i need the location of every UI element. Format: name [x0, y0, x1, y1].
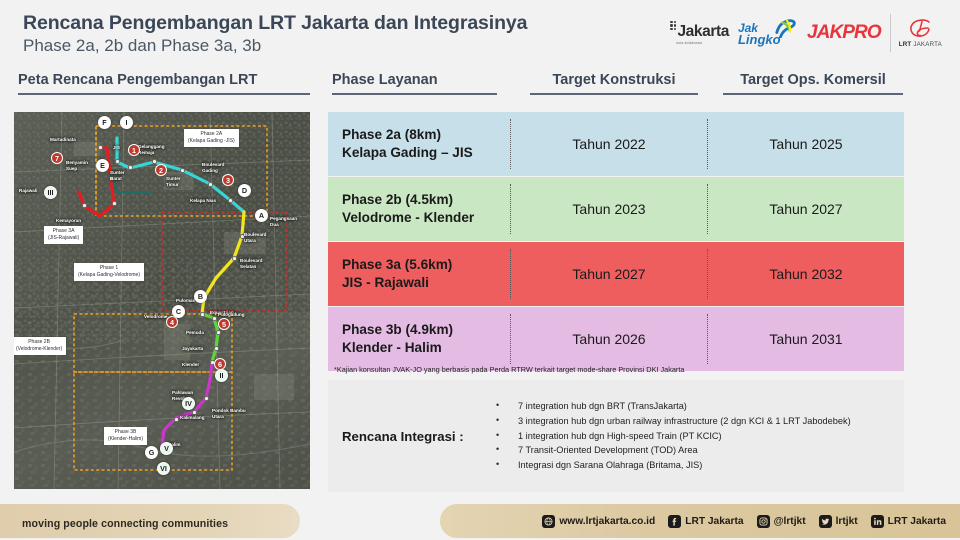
phase-cell: Phase 2a (8km) Kelapa Gading – JIS	[328, 126, 510, 161]
construction-target: Tahun 2026	[511, 331, 707, 347]
map-area-label-line1: Phase 3A	[48, 228, 79, 235]
station-dot	[98, 145, 103, 150]
map-area-label-line1: Phase 2A	[188, 131, 235, 138]
footer-instagram-label: @lrtjkt	[774, 516, 806, 527]
map-area-label-line2: (Kelapa Gading-Velodrome)	[78, 272, 140, 279]
station-dot	[152, 159, 157, 164]
station-dot	[174, 417, 179, 422]
phase-cell: Phase 3b (4.9km) Klender - Halim	[328, 321, 510, 356]
logo-strip: Jakarta kota kolaborasi Jak Lingko JAKPR…	[670, 13, 942, 53]
map-badge-II[interactable]: II	[215, 369, 228, 382]
station-dot	[112, 201, 117, 206]
list-item: 7 Transit-Oriented Development (TOD) Are…	[496, 443, 851, 458]
station-label: Gelanggang Remaja	[138, 144, 168, 155]
lrt-word-bold: LRT	[899, 41, 912, 48]
station-label: Pondok Bambu Utara	[212, 408, 248, 419]
integration-plan-title: Rencana Integrasi :	[328, 429, 496, 444]
station-label: Boulevard Selatan	[240, 258, 266, 269]
map-area-label-line1: Phase 2B	[16, 339, 62, 346]
construction-target: Tahun 2027	[511, 266, 707, 282]
station-dot	[200, 312, 205, 317]
map-badge-D[interactable]: D	[238, 184, 251, 197]
map-badge-A[interactable]: A	[255, 209, 268, 222]
phase-line1: Phase 3a (5.6km)	[342, 256, 510, 274]
lrt-jakarta-logo: LRT JAKARTA	[890, 14, 942, 52]
footer-website-label: www.lrtjakarta.co.id	[559, 516, 655, 527]
page-title: Rencana Pengembangan LRT Jakarta dan Int…	[23, 12, 527, 34]
phase-line2: Klender - Halim	[342, 339, 510, 357]
map-area-label-phase2b: Phase 2B (Velodrome-Klender)	[14, 337, 66, 355]
map-badge-VI[interactable]: VI	[157, 462, 170, 475]
footer-twitter-label: lrtjkt	[836, 516, 858, 527]
phase-cell: Phase 3a (5.6km) JIS - Rajawali	[328, 256, 510, 291]
station-label: JIS	[113, 145, 120, 151]
jakpro-logo-word: JAKPRO	[807, 22, 881, 44]
lrt-jakarta-wordmark: LRT JAKARTA	[899, 41, 942, 48]
map-badge-B[interactable]: B	[194, 290, 207, 303]
table-row[interactable]: Phase 3a (5.6km) JIS - Rajawali Tahun 20…	[328, 242, 904, 306]
station-dot	[232, 256, 237, 261]
list-item: 3 integration hub dgn urban railway infr…	[496, 414, 851, 429]
map-area-label-line1: Phase 3B	[108, 429, 143, 436]
map-badge-3[interactable]: 3	[222, 174, 234, 186]
linkedin-icon	[871, 515, 884, 528]
footer-website-link[interactable]: www.lrtjakarta.co.id	[542, 515, 655, 528]
station-dot	[82, 203, 87, 208]
map-badge-V[interactable]: V	[160, 442, 173, 455]
table-row[interactable]: Phase 2b (4.5km) Velodrome - Klender Tah…	[328, 177, 904, 241]
footer-social-bar: www.lrtjakarta.co.id LRT Jakarta @lrtjkt	[440, 504, 960, 538]
column-heading-construction: Target Konstruksi	[530, 72, 698, 95]
station-dot	[214, 346, 219, 351]
jakarta-logo-word: Jakarta	[677, 24, 729, 40]
map-area-label-line2: (Klender-Halim)	[108, 436, 143, 443]
title-block: Rencana Pengembangan LRT Jakarta dan Int…	[23, 12, 527, 57]
footer-facebook-link[interactable]: LRT Jakarta	[668, 515, 743, 528]
map-badge-E[interactable]: E	[96, 159, 109, 172]
station-dot	[216, 330, 221, 335]
map-area-label-line2: (JIS-Rajawali)	[48, 235, 79, 242]
phase-cell: Phase 2b (4.5km) Velodrome - Klender	[328, 191, 510, 226]
lrt-development-map[interactable]: Martadinata Benyamin Suep Rajawali Kemay…	[14, 112, 310, 489]
station-dot	[228, 198, 233, 203]
page-subtitle: Phase 2a, 2b dan Phase 3a, 3b	[23, 35, 527, 56]
map-badge-1[interactable]: 1	[128, 144, 140, 156]
twitter-icon	[819, 515, 832, 528]
table-footnote: *Kajian konsultan JVAK-JO yang berbasis …	[334, 365, 684, 374]
map-area-label-line2: (Kelapa Gading -JIS)	[188, 138, 235, 145]
facebook-icon	[668, 515, 681, 528]
map-area-label-line1: Phase 1	[78, 265, 140, 272]
lrt-word-light: JAKARTA	[913, 41, 942, 48]
footer-facebook-label: LRT Jakarta	[685, 516, 743, 527]
table-row[interactable]: Phase 2a (8km) Kelapa Gading – JIS Tahun…	[328, 112, 904, 176]
lrt-swirl-icon	[907, 18, 933, 40]
integration-plan-list: 7 integration hub dgn BRT (TransJakarta)…	[496, 399, 851, 474]
map-badge-2[interactable]: 2	[155, 164, 167, 176]
map-area-label-phase3a: Phase 3A (JIS-Rajawali)	[44, 226, 83, 244]
footer-linkedin-link[interactable]: LRT Jakarta	[871, 515, 946, 528]
instagram-icon	[757, 515, 770, 528]
map-badge-C[interactable]: C	[172, 305, 185, 318]
list-item: 1 integration hub dgn High-speed Train (…	[496, 429, 851, 444]
station-label: Klender	[182, 362, 199, 368]
station-dot	[180, 168, 185, 173]
station-label: Kalimalang	[180, 415, 205, 421]
phase-line1: Phase 2a (8km)	[342, 126, 510, 144]
phase-line1: Phase 2b (4.5km)	[342, 191, 510, 209]
jak-lingko-mark-icon	[774, 18, 796, 38]
station-label: Kelapa Nias	[190, 198, 216, 204]
map-area-label-phase3b: Phase 3B (Klender-Halim)	[104, 427, 147, 445]
jakarta-dots-icon	[670, 21, 676, 31]
footer-instagram-link[interactable]: @lrtjkt	[757, 515, 806, 528]
map-badge-G[interactable]: G	[145, 446, 158, 459]
phase-line2: JIS - Rajawali	[342, 274, 510, 292]
station-label: Sunter Barat	[110, 170, 132, 181]
map-badge-7[interactable]: 7	[51, 152, 63, 164]
station-label: Jayakarta	[182, 346, 203, 352]
construction-target: Tahun 2022	[511, 136, 707, 152]
footer-tagline: moving people connecting communities	[22, 518, 228, 530]
globe-icon	[542, 515, 555, 528]
column-heading-phase: Phase Layanan	[332, 72, 497, 95]
footer-tagline-bar: moving people connecting communities	[0, 504, 300, 538]
station-label: Benyamin Suep	[66, 160, 92, 171]
map-badge-I[interactable]: I	[120, 116, 133, 129]
jakpro-logo: JAKPRO	[807, 14, 881, 52]
station-dot	[192, 410, 197, 415]
phase-line1: Phase 3b (4.9km)	[342, 321, 510, 339]
station-dot	[204, 396, 209, 401]
station-dot	[212, 316, 217, 321]
operation-target: Tahun 2025	[708, 136, 904, 152]
operation-target: Tahun 2032	[708, 266, 904, 282]
operation-target: Tahun 2031	[708, 331, 904, 347]
station-label: Boulevard Utara	[244, 232, 270, 243]
integration-plan-panel: Rencana Integrasi : 7 integration hub dg…	[328, 380, 904, 492]
map-badge-5[interactable]: 5	[218, 318, 230, 330]
map-badge-F[interactable]: F	[98, 116, 111, 129]
table-row[interactable]: Phase 3b (4.9km) Klender - Halim Tahun 2…	[328, 307, 904, 371]
jak-lingko-logo: Jak Lingko	[738, 14, 798, 52]
list-item: Integrasi dgn Sarana Olahraga (Britama, …	[496, 458, 851, 473]
station-label: Pemuda	[186, 330, 204, 336]
column-heading-operation: Target Ops. Komersil	[723, 72, 903, 95]
map-badge-III[interactable]: III	[44, 186, 57, 199]
station-label: Kemayoran	[56, 218, 81, 224]
map-area-label-phase2a: Phase 2A (Kelapa Gading -JIS)	[184, 129, 239, 147]
operation-target: Tahun 2027	[708, 201, 904, 217]
phase-line2: Kelapa Gading – JIS	[342, 144, 510, 162]
page-footer: moving people connecting communities www…	[0, 500, 960, 540]
station-label: Sunter Timur	[166, 176, 188, 187]
footer-twitter-link[interactable]: lrtjkt	[819, 515, 858, 528]
station-label: Boulevard Gading	[202, 162, 228, 173]
page-header: Rencana Pengembangan LRT Jakarta dan Int…	[0, 0, 960, 62]
list-item: 7 integration hub dgn BRT (TransJakarta)	[496, 399, 851, 414]
column-heading-map: Peta Rencana Pengembangan LRT	[18, 72, 310, 95]
map-area-label-line2: (Velodrome-Klender)	[16, 346, 62, 353]
map-area-label-phase1: Phase 1 (Kelapa Gading-Velodrome)	[74, 263, 144, 281]
station-label: Pulomas	[176, 298, 195, 304]
station-label: Rajawali	[19, 188, 37, 194]
station-dot	[208, 182, 213, 187]
footer-linkedin-label: LRT Jakarta	[888, 516, 946, 527]
station-label: Martadinata	[50, 137, 76, 143]
construction-target: Tahun 2023	[511, 201, 707, 217]
station-dot	[128, 165, 133, 170]
jakarta-logo-tagline: kota kolaborasi	[676, 41, 702, 45]
map-badge-IV[interactable]: IV	[182, 397, 195, 410]
station-label: Pegangsaan Dua	[270, 216, 296, 227]
station-label: Pulogadung	[218, 312, 245, 318]
station-label: Velodrome	[144, 314, 168, 320]
phase-line2: Velodrome - Klender	[342, 209, 510, 227]
station-dot	[115, 159, 120, 164]
jakarta-logo: Jakarta kota kolaborasi	[670, 14, 729, 52]
